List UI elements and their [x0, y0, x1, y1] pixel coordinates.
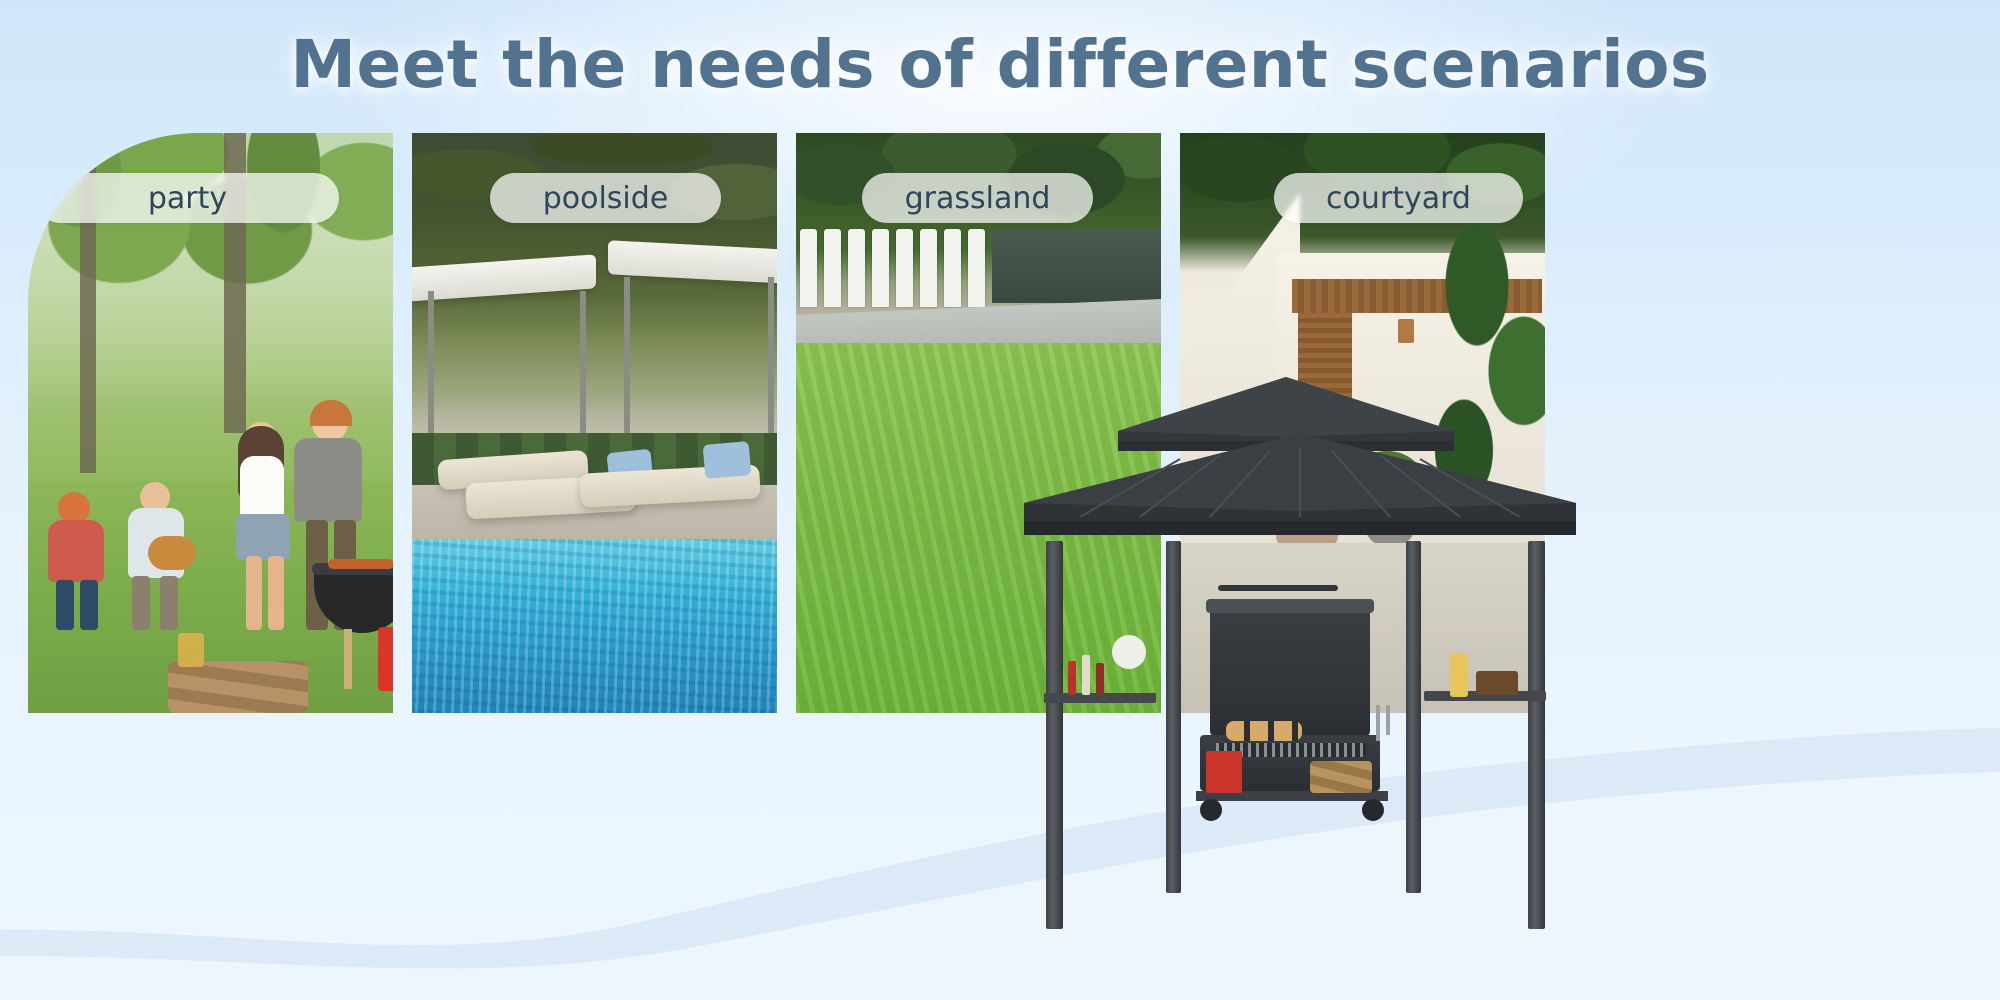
- gazebo-post: [1528, 541, 1545, 929]
- scenario-label-courtyard: courtyard: [1274, 173, 1523, 223]
- umbrella-pole: [768, 277, 774, 437]
- umbrella-pole: [624, 277, 630, 437]
- grill-food: [328, 559, 393, 569]
- scenario-label-text: grassland: [905, 181, 1051, 216]
- umbrella-pole: [428, 291, 434, 441]
- gazebo-post: [1166, 541, 1181, 893]
- flower-vase: [1112, 635, 1146, 669]
- sauce-bottle: [1068, 661, 1076, 695]
- sauce-bottle: [1096, 663, 1104, 695]
- cart-wheel: [1200, 799, 1222, 821]
- palm-fronds: [412, 133, 777, 353]
- page-title: Meet the needs of different scenarios: [0, 26, 2000, 103]
- person-woman-grilling: [226, 422, 298, 632]
- scenario-panel-poolside[interactable]: poolside: [412, 133, 777, 713]
- gazebo-roof-lower: [1020, 429, 1580, 549]
- gazebo-post: [1046, 541, 1063, 929]
- scenario-panel-party[interactable]: party: [28, 133, 393, 713]
- wall-lamp: [1398, 319, 1414, 343]
- grill-lid: [1206, 599, 1374, 613]
- umbrella-pole: [580, 291, 586, 441]
- person-seated: [46, 492, 108, 632]
- scenario-label-text: poolside: [543, 181, 669, 216]
- supply-box: [1206, 751, 1242, 793]
- person-guitarist: [124, 482, 190, 632]
- drink-pitcher: [1450, 653, 1468, 697]
- firewood-bundle: [1310, 761, 1372, 793]
- scenario-label-text: party: [148, 181, 227, 216]
- scenario-label-grassland: grassland: [862, 173, 1093, 223]
- serving-tray: [1476, 671, 1518, 695]
- gazebo-post: [1406, 541, 1421, 893]
- grill-handle: [1218, 585, 1338, 591]
- lounger-pillow: [703, 441, 752, 479]
- cart-wheel: [1362, 799, 1384, 821]
- product-grill-gazebo[interactable]: [1020, 455, 1580, 935]
- dark-fence: [992, 229, 1161, 303]
- grill-tool: [1376, 705, 1380, 741]
- scenario-label-poolside: poolside: [490, 173, 721, 223]
- bottom-wave: [0, 670, 2000, 1000]
- sauce-bottle: [1082, 655, 1090, 695]
- scenario-label-party: party: [36, 173, 339, 223]
- drink-bottle: [178, 633, 204, 667]
- grill-tool: [1386, 705, 1390, 735]
- grill-cabinet: [1210, 607, 1370, 737]
- scenario-label-text: courtyard: [1326, 181, 1471, 216]
- grill-food: [1226, 721, 1302, 741]
- banner-stage: Meet the needs of different scenarios: [0, 0, 2000, 1000]
